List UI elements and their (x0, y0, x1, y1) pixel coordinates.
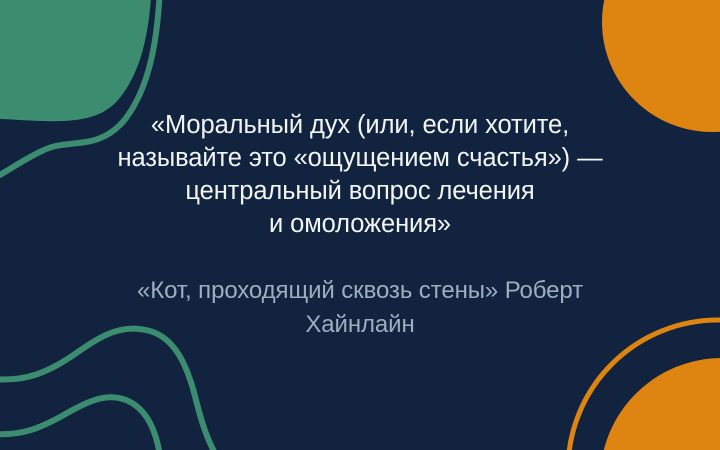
quote-attribution: «Кот, проходящий сквозь стены» Роберт Ха… (100, 274, 620, 342)
quote-content: «Моральный дух (или, если хотите, называ… (0, 0, 720, 450)
quote-text: «Моральный дух (или, если хотите, называ… (80, 109, 640, 241)
quote-card: «Моральный дух (или, если хотите, называ… (0, 0, 720, 450)
